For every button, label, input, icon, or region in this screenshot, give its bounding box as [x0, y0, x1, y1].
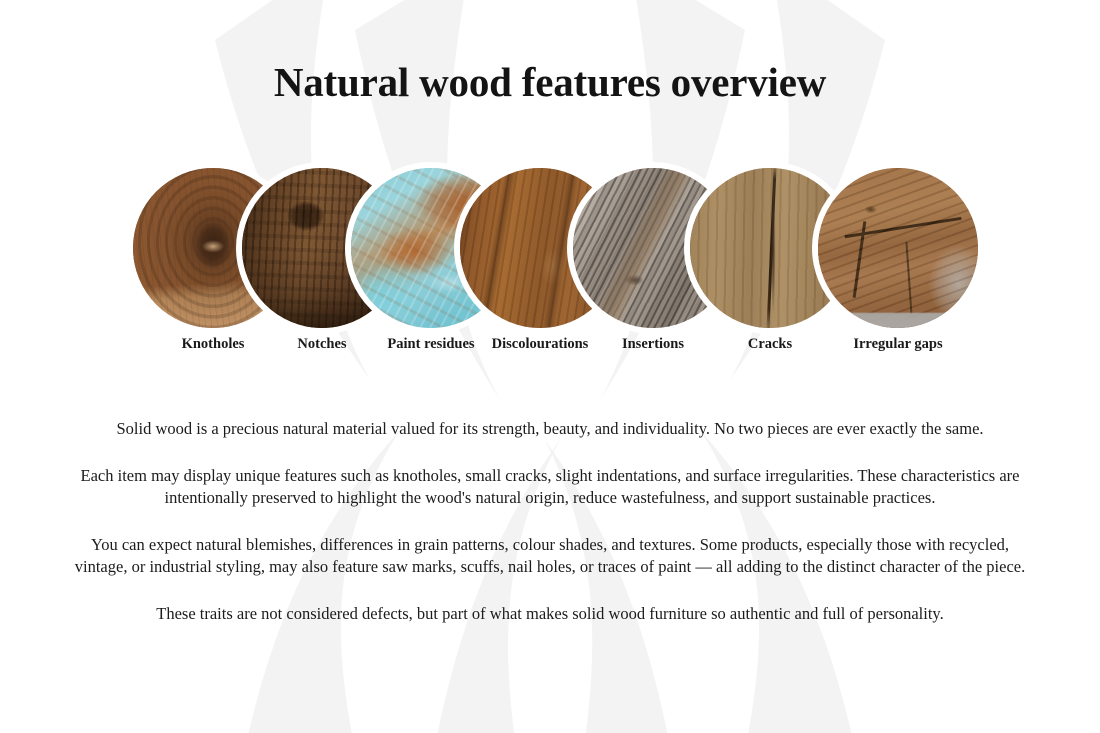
- body-paragraph-3: You can expect natural blemishes, differ…: [50, 534, 1050, 579]
- feature-image-irregular-gaps: [818, 168, 978, 328]
- feature-item-irregular-gaps[interactable]: Irregular gaps: [818, 168, 978, 328]
- body-copy: Solid wood is a precious natural materia…: [50, 418, 1050, 625]
- feature-label-irregular-gaps: Irregular gaps: [778, 336, 1018, 353]
- body-paragraph-1: Solid wood is a precious natural materia…: [50, 418, 1050, 441]
- body-paragraph-2: Each item may display unique features su…: [50, 465, 1050, 510]
- body-paragraph-4: These traits are not considered defects,…: [50, 603, 1050, 626]
- page-title: Natural wood features overview: [0, 58, 1100, 106]
- feature-strip: Knotholes Notches Paint residues Discolo…: [0, 168, 1100, 368]
- page-root: Natural wood features overview Knotholes…: [0, 0, 1100, 733]
